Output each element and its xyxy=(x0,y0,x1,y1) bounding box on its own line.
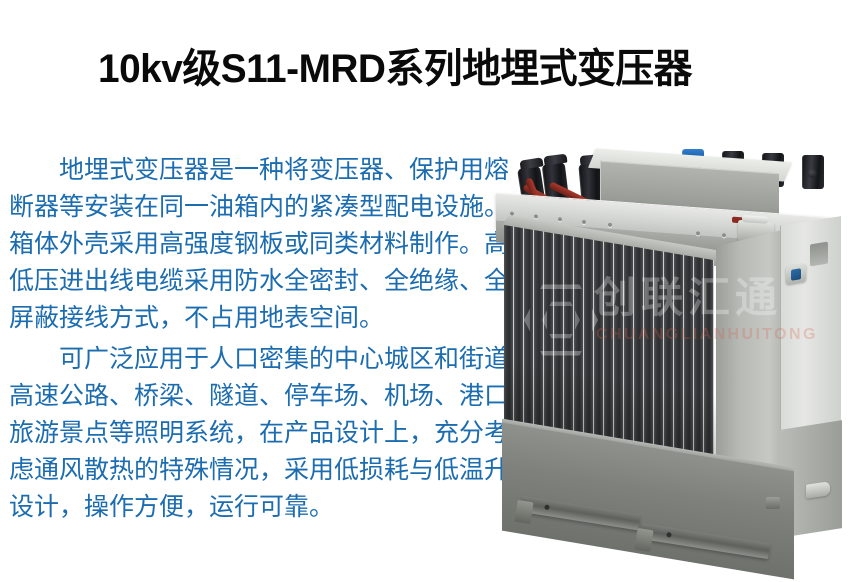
product-description: 地埋式变压器是一种将变压器、保护用熔断器等安装在同一油箱内的紧凑型配电设施。箱体… xyxy=(9,152,521,530)
description-paragraph-1: 地埋式变压器是一种将变压器、保护用熔断器等安装在同一油箱内的紧凑型配电设施。箱体… xyxy=(9,152,521,337)
skid-end-cap xyxy=(514,500,533,524)
vent-plate xyxy=(810,242,828,267)
tank-foot xyxy=(766,497,780,509)
lv-bushing-4 xyxy=(802,155,824,189)
oil-level-gauge xyxy=(786,263,806,284)
product-banner: 10kv级S11-MRD系列地埋式变压器 地埋式变压器是一种将变压器、保护用熔断… xyxy=(0,0,850,582)
page-title: 10kv级S11-MRD系列地埋式变压器 xyxy=(12,48,778,90)
product-image: 创联汇通 CHUANGLIANHUITONG xyxy=(480,125,850,565)
description-paragraph-2: 可广泛应用于人口密集的中心城区和街道高速公路、桥梁、隧道、停车场、机场、港口旅游… xyxy=(9,341,521,526)
skid-end-cap xyxy=(634,528,653,552)
